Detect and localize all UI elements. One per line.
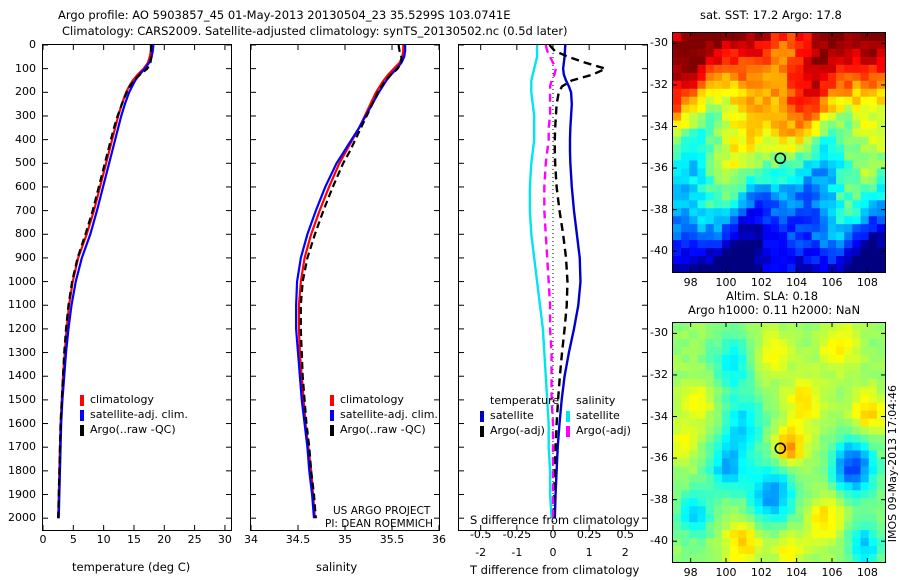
sst-map-y-tick--38: -38 — [632, 203, 668, 216]
sst-map-title: sat. SST: 17.2 Argo: 17.8 — [700, 8, 842, 22]
difference-t-tick--2: -2 — [465, 546, 497, 559]
sla-map-subtitle: Argo h1000: 0.11 h2000: NaN — [688, 303, 860, 317]
sla-map-x-tick-106: 106 — [818, 566, 846, 579]
sst-map-x-tick-108: 108 — [853, 276, 881, 289]
salinity-legend-label-1: satellite-adj. clim. — [340, 408, 438, 421]
sla-map-y-tick--30: -30 — [632, 326, 668, 339]
temperature-y-tick-1600: 1600 — [0, 417, 36, 430]
temperature-y-tick-800: 800 — [0, 227, 36, 240]
difference-legend-heading-0: temperature — [490, 394, 559, 407]
temperature-y-tick-600: 600 — [0, 180, 36, 193]
sla-map-y-tick--34: -34 — [632, 410, 668, 423]
temperature-y-tick-2000: 2000 — [0, 511, 36, 524]
temperature-y-tick-400: 400 — [0, 133, 36, 146]
difference-legend-label-1-0: satellite — [576, 409, 620, 422]
difference-t-tick-2: 2 — [609, 546, 641, 559]
sst-map-y-tick--30: -30 — [632, 36, 668, 49]
temperature-y-tick-300: 300 — [0, 109, 36, 122]
temperature-y-tick-1100: 1100 — [0, 298, 36, 311]
salinity-series-0 — [299, 45, 403, 518]
sst-map-y-tick--34: -34 — [632, 120, 668, 133]
sla-map-image — [673, 323, 885, 562]
sst-map-x-tick-104: 104 — [783, 276, 811, 289]
sst-map-x-tick-98: 98 — [677, 276, 705, 289]
temperature-x-tick-15: 15 — [122, 533, 146, 546]
difference-plot-area — [459, 45, 647, 530]
difference-t-axis-label: T difference from climatology — [470, 563, 639, 577]
temperature-y-tick-200: 200 — [0, 85, 36, 98]
temperature-y-tick-1500: 1500 — [0, 393, 36, 406]
temperature-y-tick-1900: 1900 — [0, 488, 36, 501]
sst-map-panel — [672, 32, 886, 273]
sla-map-x-tick-100: 100 — [712, 566, 740, 579]
temperature-x-tick-25: 25 — [183, 533, 207, 546]
sst-map-x-tick-100: 100 — [712, 276, 740, 289]
difference-panel — [458, 44, 648, 531]
difference-legend-heading-1: salinity — [576, 394, 615, 407]
difference-s-tick-0: 0 — [533, 528, 573, 541]
difference-t-tick--1: -1 — [501, 546, 533, 559]
temperature-y-tick-1800: 1800 — [0, 464, 36, 477]
temperature-x-tick-5: 5 — [61, 533, 85, 546]
salinity-x-tick-35: 35 — [327, 533, 363, 546]
difference-series-3 — [544, 45, 556, 518]
pi-name-text: PI: DEAN ROEMMICH — [325, 518, 433, 530]
difference-legend-label-0-0: satellite — [490, 409, 534, 422]
sst-map-y-tick--32: -32 — [632, 78, 668, 91]
salinity-series-1 — [296, 45, 405, 518]
temperature-y-tick-100: 100 — [0, 62, 36, 75]
sla-map-y-tick--40: -40 — [632, 534, 668, 547]
temperature-y-tick-1300: 1300 — [0, 346, 36, 359]
sst-map-y-tick--36: -36 — [632, 161, 668, 174]
salinity-panel — [250, 44, 440, 531]
temperature-series-2 — [58, 45, 151, 518]
figure-root: Argo profile: AO 5903857_45 01-May-2013 … — [0, 0, 900, 580]
salinity-legend-swatch-1 — [330, 410, 334, 421]
difference-legend-swatch-1-0 — [566, 411, 570, 422]
sla-map-y-tick--38: -38 — [632, 493, 668, 506]
difference-s-tick--0.25: -0.25 — [497, 528, 537, 541]
difference-t-tick-0: 0 — [537, 546, 569, 559]
temperature-y-tick-700: 700 — [0, 204, 36, 217]
sla-map-y-tick--36: -36 — [632, 451, 668, 464]
sla-map-panel — [672, 322, 886, 563]
temperature-legend-label-1: satellite-adj. clim. — [90, 408, 188, 421]
salinity-x-axis-label: salinity — [316, 560, 357, 574]
salinity-x-tick-36: 36 — [421, 533, 457, 546]
sst-map-x-tick-102: 102 — [747, 276, 775, 289]
sst-map-x-tick-106: 106 — [818, 276, 846, 289]
temperature-y-tick-900: 900 — [0, 251, 36, 264]
temperature-y-tick-0: 0 — [0, 38, 36, 51]
salinity-legend-swatch-2 — [330, 425, 334, 436]
salinity-series-2 — [301, 45, 402, 518]
sst-map-y-tick--40: -40 — [632, 244, 668, 257]
temperature-legend-label-2: Argo(..raw -QC) — [90, 423, 176, 436]
salinity-legend-label-0: climatology — [340, 393, 404, 406]
temperature-y-tick-1200: 1200 — [0, 322, 36, 335]
sla-map-y-tick--32: -32 — [632, 368, 668, 381]
salinity-x-tick-34.5: 34.5 — [280, 533, 316, 546]
salinity-plot-area — [251, 45, 439, 530]
temperature-x-tick-20: 20 — [152, 533, 176, 546]
us-argo-project-text: US ARGO PROJECT — [333, 505, 430, 517]
difference-s-tick--0.5: -0.5 — [461, 528, 501, 541]
temperature-y-tick-1000: 1000 — [0, 275, 36, 288]
sla-map-title: Altim. SLA: 0.18 — [726, 289, 818, 303]
figure-title-line1: Argo profile: AO 5903857_45 01-May-2013 … — [58, 8, 511, 22]
difference-s-tick-0.25: 0.25 — [569, 528, 609, 541]
temperature-x-tick-10: 10 — [92, 533, 116, 546]
salinity-x-tick-34: 34 — [233, 533, 269, 546]
sla-map-x-tick-98: 98 — [677, 566, 705, 579]
temperature-panel — [42, 44, 232, 531]
temperature-legend-swatch-0 — [80, 395, 84, 406]
difference-legend-swatch-0-1 — [480, 426, 484, 437]
difference-legend-label-0-1: Argo(-adj) — [490, 424, 545, 437]
temperature-legend-swatch-1 — [80, 410, 84, 421]
temperature-x-tick-0: 0 — [31, 533, 55, 546]
temperature-plot-area — [43, 45, 231, 530]
difference-legend-label-1-1: Argo(-adj) — [576, 424, 631, 437]
sst-map-image — [673, 33, 885, 272]
sla-map-x-tick-102: 102 — [747, 566, 775, 579]
sla-map-x-tick-104: 104 — [783, 566, 811, 579]
difference-legend-swatch-0-0 — [480, 411, 484, 422]
temperature-y-tick-1700: 1700 — [0, 440, 36, 453]
temperature-legend-swatch-2 — [80, 425, 84, 436]
temperature-x-axis-label: temperature (deg C) — [72, 560, 190, 574]
figure-title-line2: Climatology: CARS2009. Satellite-adjuste… — [62, 24, 568, 38]
temperature-y-tick-500: 500 — [0, 156, 36, 169]
salinity-legend-swatch-0 — [330, 395, 334, 406]
sla-map-x-tick-108: 108 — [853, 566, 881, 579]
difference-t-tick-1: 1 — [573, 546, 605, 559]
difference-legend-swatch-1-1 — [566, 426, 570, 437]
salinity-x-tick-35.5: 35.5 — [374, 533, 410, 546]
temperature-legend-label-0: climatology — [90, 393, 154, 406]
salinity-legend-label-2: Argo(..raw -QC) — [340, 423, 426, 436]
difference-s-axis-label: S difference from climatology — [470, 513, 640, 527]
imos-timestamp: IMOS 09-May-2013 17:04:46 — [886, 385, 899, 542]
temperature-y-tick-1400: 1400 — [0, 369, 36, 382]
